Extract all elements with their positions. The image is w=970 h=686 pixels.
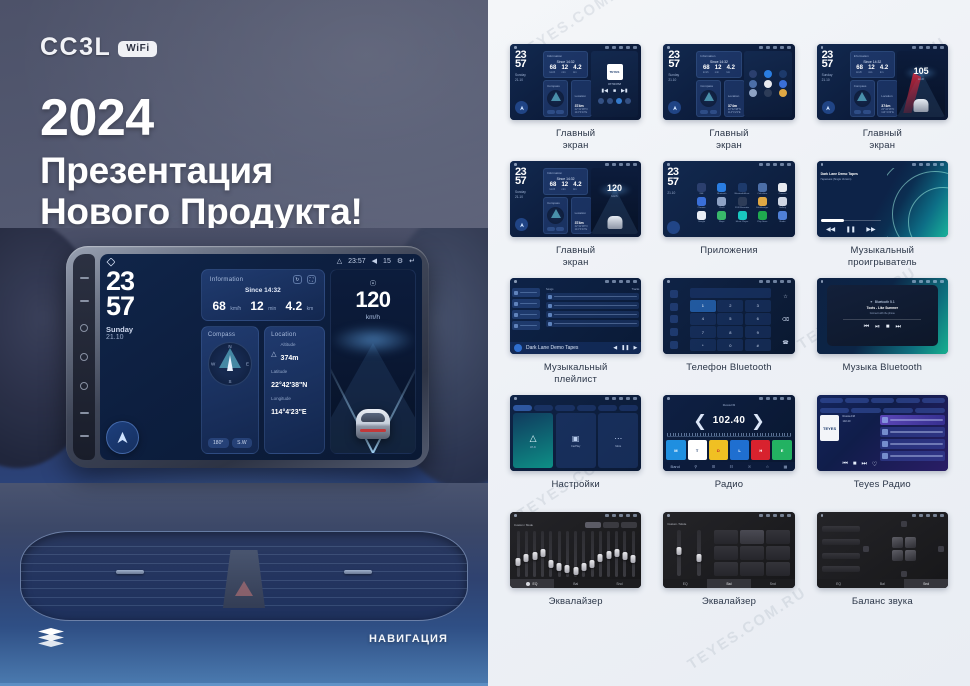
- gallery-item[interactable]: EQBalSndБаланс звука: [817, 512, 948, 620]
- backspace-icon[interactable]: ⌫: [782, 317, 789, 323]
- thumb-compass-card[interactable]: Compass: [696, 80, 721, 117]
- eq-band-slider[interactable]: [582, 531, 585, 577]
- trip-stat: 68 km/h: [213, 297, 242, 315]
- card-label: More: [615, 445, 621, 448]
- thumb-since: Since 14:32: [854, 60, 891, 64]
- wifi-icon: [759, 397, 763, 400]
- thumb-navigation-fab[interactable]: [668, 101, 681, 114]
- thumb-stat: 68km/h: [856, 65, 863, 74]
- equalizer-bands[interactable]: [510, 529, 641, 579]
- eq-preset-button: [766, 530, 790, 544]
- trip-stat: 4.2 km: [285, 297, 313, 315]
- button-back-icon[interactable]: [80, 382, 88, 390]
- settings-card-carplay[interactable]: ▣CarPlay: [556, 413, 596, 468]
- eq-band-slider[interactable]: [558, 531, 561, 577]
- thumb-location-title: Location: [575, 211, 586, 215]
- prev-station-icon[interactable]: ❮: [693, 411, 706, 431]
- teyes-station-row[interactable]: [880, 451, 945, 461]
- arrow-down-icon[interactable]: [901, 571, 907, 577]
- thumb-status-bar: [510, 512, 641, 519]
- thumb-dialpad[interactable]: 123456789*0#: [690, 300, 771, 351]
- stop-icon[interactable]: ■: [886, 324, 890, 331]
- headline-line-2: Нового Продукта!: [40, 191, 460, 232]
- playlist-category[interactable]: [512, 310, 540, 319]
- balance-pad[interactable]: [864, 522, 943, 576]
- playlist-category[interactable]: [512, 321, 540, 330]
- trip-stat: 12 min: [250, 297, 276, 315]
- thumb-navigation-preview[interactable]: 105km/h: [897, 51, 945, 118]
- clock-weekday: Sunday: [106, 325, 196, 334]
- teyes-subtabs[interactable]: [817, 405, 948, 415]
- thumb-clock-column: 2357Sunday21.10: [513, 51, 541, 118]
- compass-card[interactable]: Compass N S W E: [201, 326, 259, 454]
- compass-direction: S.W: [232, 438, 253, 448]
- car-3d-model: [914, 99, 929, 112]
- app-label: Google: [698, 221, 705, 223]
- app-icon: [749, 70, 757, 78]
- clock-icon: [612, 280, 616, 283]
- thumb-status-bar: [817, 278, 948, 285]
- thumb-widgets-column: InformationSince 14:3268km/h12min4.2kmCo…: [850, 51, 895, 118]
- thumb-stat: 4.2km: [573, 182, 581, 191]
- wifi-icon: △: [337, 258, 342, 265]
- stat-unit: min: [268, 306, 276, 312]
- thumb-stat: 12min: [715, 65, 722, 74]
- dial-key: 0: [717, 339, 743, 351]
- gallery-item[interactable]: Custom / ModeEQBalSndЭквалайзер: [510, 512, 641, 620]
- wifi-icon: [759, 514, 763, 517]
- dial-key: 2: [717, 300, 743, 312]
- screen-thumbnail-settings[interactable]: △Wi-Fi▣CarPlay⋯More: [510, 395, 641, 471]
- thumb-widgets-column: InformationSince 14:3268km/h12min4.2kmCo…: [543, 51, 588, 118]
- volume-icon: [619, 280, 623, 283]
- gallery-item[interactable]: △Wi-Fi▣CarPlay⋯MoreНастройки: [510, 395, 641, 503]
- radio-toolbar[interactable]: Band⚲☰☷☉☆▦: [663, 462, 794, 471]
- phone-number-input[interactable]: [690, 288, 771, 298]
- stat-unit: km: [307, 306, 314, 312]
- thumb-playlist-sidebar: [510, 285, 542, 342]
- home-icon: [821, 280, 824, 283]
- favorite-icon[interactable]: ♡: [872, 461, 877, 468]
- dial-key: 7: [690, 326, 716, 338]
- eq-preset-button: [740, 546, 764, 560]
- clock-icon: [919, 280, 923, 283]
- navigation-preview[interactable]: ☉ 120 km/h: [330, 269, 416, 454]
- next-icon: ▶: [633, 345, 637, 351]
- next-icon[interactable]: ⏭: [862, 461, 867, 468]
- thumb-settings-tabs[interactable]: [510, 402, 641, 413]
- thumb-location-card[interactable]: Location374m22°42'38"N114°4'23"E: [724, 80, 745, 117]
- screen-thumbnail-home-nav[interactable]: 2357Sunday21.10InformationSince 14:3268k…: [510, 161, 641, 237]
- next-station-icon[interactable]: ❯: [751, 411, 764, 431]
- screen-thumbnail-bt-music[interactable]: ⚭Bluetooth 5.1Toots - Like SummerConnect…: [817, 278, 948, 354]
- tab-wifi: [513, 405, 532, 411]
- screen-thumbnail-teyes-radio[interactable]: TEYESRussia FM102.40⏮■⏭♡: [817, 395, 948, 471]
- app-label: Calculator: [757, 193, 767, 195]
- thumb-clock-minutes: 57: [822, 60, 848, 70]
- eq-band-slider[interactable]: [632, 531, 635, 577]
- app-label: Radio: [780, 221, 786, 223]
- gallery-item[interactable]: 2357Sunday21.10InformationSince 14:3268k…: [510, 44, 641, 152]
- thumb-status-bar: [817, 512, 948, 519]
- thumb-location-title: Location: [575, 94, 586, 98]
- thumb-stat: 68km/h: [703, 65, 710, 74]
- thumb-status-bar: [510, 278, 641, 285]
- console-button-right[interactable]: [344, 570, 372, 574]
- thumb-information-card[interactable]: InformationSince 14:3268km/h12min4.2km: [696, 51, 741, 78]
- playlist-category[interactable]: [512, 299, 540, 308]
- thumb-compass-card[interactable]: Compass: [543, 197, 568, 234]
- thumb-stat: 68km/h: [550, 182, 557, 191]
- latitude-row: Latitude 22°42'38"N: [271, 369, 318, 392]
- trip-since-label: Since 14:32: [208, 287, 318, 294]
- back-icon[interactable]: [667, 221, 680, 234]
- app-label: DVR Recorder: [735, 207, 749, 209]
- gear-icon: [626, 46, 630, 49]
- button-volume-down-icon[interactable]: [80, 277, 89, 279]
- seat: [905, 550, 916, 561]
- gallery-item[interactable]: 2357Sunday21.10InformationSince 14:3268k…: [817, 44, 948, 152]
- screen-thumbnail-home-nav-red[interactable]: 2357Sunday21.10InformationSince 14:3268k…: [817, 44, 948, 120]
- thumb-clock-column: 2357Sunday21.10: [820, 51, 848, 118]
- seat: [905, 537, 916, 548]
- app-label: Bluetooth: [717, 193, 726, 195]
- eq-band-slider[interactable]: [533, 531, 536, 577]
- hardware-button-strip[interactable]: [73, 254, 95, 460]
- button-mute-icon[interactable]: [80, 300, 89, 302]
- card-label: CarPlay: [571, 445, 580, 448]
- wifi-icon: [605, 46, 609, 49]
- navigation-arrow-icon: [825, 105, 831, 111]
- recents-icon: [670, 328, 678, 336]
- tab-display: [555, 405, 574, 411]
- balance-readouts: [822, 522, 861, 576]
- button-next-icon[interactable]: [80, 435, 89, 437]
- back-icon: [787, 514, 791, 517]
- teyes-station-row[interactable]: [880, 415, 945, 425]
- tab-balance: Bal: [554, 579, 598, 588]
- eq-band-slider[interactable]: [517, 531, 520, 577]
- back-icon: [940, 46, 944, 49]
- progress-bar[interactable]: [821, 220, 881, 221]
- thumb-stat: 4.2km: [880, 65, 888, 74]
- app-icon: Play Store: [753, 211, 771, 223]
- gear-icon: [626, 163, 630, 166]
- location-title: Location: [271, 332, 318, 338]
- arrow-up-icon[interactable]: [901, 521, 907, 527]
- dial-key: 6: [745, 313, 771, 325]
- back-icon[interactable]: ↵: [409, 258, 415, 265]
- thumb-information-card[interactable]: InformationSince 14:3268km/h12min4.2km: [543, 51, 588, 78]
- refresh-icon[interactable]: ↻: [293, 275, 302, 284]
- clock-icon: [766, 280, 770, 283]
- wifi-icon: [759, 46, 763, 49]
- thumb-compass-card[interactable]: Compass: [543, 80, 568, 117]
- eq-preset-grid[interactable]: [714, 530, 790, 576]
- thumb-info-title: Information: [547, 171, 584, 175]
- screen-thumbnail-bt-phone[interactable]: 123456789*0#☆⌫☎: [663, 278, 794, 354]
- button-prev-icon[interactable]: [80, 412, 89, 414]
- teyes-tabs[interactable]: [817, 395, 948, 405]
- widgets-column: Information ↻ ⛶ Since 14:32 68: [201, 269, 325, 454]
- tab-sound: Snd: [751, 579, 795, 588]
- eq-band-slider[interactable]: [607, 531, 610, 577]
- eq-band-slider[interactable]: [525, 531, 528, 577]
- gallery-item[interactable]: Custom / ModeEQBalSndЭквалайзер: [663, 512, 794, 620]
- thumb-navigation-preview[interactable]: 120km/h: [591, 168, 639, 235]
- eq-band-slider[interactable]: [615, 531, 618, 577]
- playlist-row[interactable]: [546, 293, 639, 300]
- tab-balance: Bal: [860, 579, 904, 588]
- dial-key: 5: [717, 313, 743, 325]
- bt-version: Bluetooth 5.1: [875, 300, 895, 304]
- app-label: BluetoothMusic: [735, 193, 750, 195]
- prev-icon: ◀◀: [826, 226, 835, 233]
- back-icon: [633, 280, 637, 283]
- playlist-category[interactable]: [512, 288, 540, 297]
- app-icon: [779, 89, 787, 97]
- button-power-icon[interactable]: [80, 324, 88, 332]
- prev-icon[interactable]: ⏮: [864, 324, 869, 331]
- visualizer: [887, 168, 948, 237]
- screens-gallery-panel: TEYES.COM.RU TEYES.COM.RU TEYES.COM.RU T…: [488, 0, 970, 686]
- app-icon: [779, 70, 787, 78]
- altitude-value: 374m: [281, 355, 299, 362]
- radio-frequency: 102.40: [713, 415, 745, 426]
- clock-icon: [612, 163, 616, 166]
- console-button-left[interactable]: [116, 570, 144, 574]
- thumb-media-widget[interactable]: TEYES07:50 PM▮◀■▶▮: [591, 51, 639, 118]
- thumb-speed-value: 105: [914, 67, 929, 76]
- status-bar: △ 23:57 ◀ 15 ⚙ ↵: [100, 254, 422, 269]
- back-icon: [940, 280, 944, 283]
- player-controls: ◀◀❚❚▶▶: [821, 226, 881, 233]
- thumb-stat: 4.2km: [727, 65, 735, 74]
- wifi-icon: △: [530, 433, 537, 444]
- call-icon[interactable]: ☎: [782, 340, 788, 346]
- thumb-phone-sidebar[interactable]: [663, 285, 684, 354]
- play-pause-icon[interactable]: ⏯: [875, 324, 880, 331]
- prev-icon[interactable]: ⏮: [842, 461, 847, 468]
- frequency-scale[interactable]: [667, 433, 790, 438]
- arrow-left-icon[interactable]: [863, 546, 869, 552]
- hero-panel: TEYES.COM.RU TEYES.COM.RU TEYES.COM.RU C…: [0, 0, 488, 686]
- gear-icon[interactable]: ⚙: [397, 258, 403, 265]
- eq-tab-bar[interactable]: EQBalSnd: [510, 579, 641, 588]
- gallery-item[interactable]: 123456789*0#☆⌫☎Телефон Bluetooth: [663, 278, 794, 386]
- screen-thumbnail-equalizer[interactable]: Custom / ModeEQBalSnd: [510, 512, 641, 588]
- volume-icon: [926, 163, 930, 166]
- eq-band-slider[interactable]: [566, 531, 569, 577]
- bt-track-title: Toots - Like Summer: [867, 306, 898, 310]
- back-icon: [940, 163, 944, 166]
- horizon-glow: [330, 325, 416, 355]
- altitude-label: Altitude: [281, 342, 299, 347]
- playlist-row[interactable]: [546, 311, 639, 318]
- gallery-item[interactable]: 235721.10IMEBluetoothBluetoothMusicCalcu…: [663, 161, 794, 269]
- hero-footer: НАВИГАЦИЯ: [0, 600, 488, 686]
- next-icon[interactable]: ⏭: [896, 324, 901, 331]
- eq-band-slider[interactable]: [574, 531, 577, 577]
- teyes-controls: ⏮■⏭♡: [842, 461, 877, 468]
- thumb-widgets-column: InformationSince 14:3268km/h12min4.2kmCo…: [543, 168, 588, 235]
- thumb-information-card[interactable]: InformationSince 14:3268km/h12min4.2km: [543, 168, 588, 195]
- dial-key: 4: [690, 313, 716, 325]
- volume-icon: [926, 46, 930, 49]
- location-card[interactable]: Location △ Altitude 374m: [264, 326, 325, 454]
- screen-thumbnail-radio[interactable]: Russia FM❮102.40❯MTDLHEBand⚲☰☷☉☆▦: [663, 395, 794, 471]
- head-unit-screen[interactable]: △ 23:57 ◀ 15 ⚙ ↵ 23 57 Sunday: [100, 254, 422, 460]
- album-art: TEYES: [607, 64, 623, 80]
- expand-icon[interactable]: ⛶: [307, 275, 316, 284]
- dial-key: *: [690, 339, 716, 351]
- gallery-item[interactable]: Dark Lane Demo TapesГармония (Single Ver…: [817, 161, 948, 269]
- search-icon: ⚲: [694, 464, 697, 469]
- brand-logo: CC3L WiFi: [40, 33, 157, 62]
- thumb-app-drawer[interactable]: [744, 51, 792, 118]
- eq-icon: ☷: [730, 464, 734, 469]
- thumb-location-card[interactable]: Location374m22°42'38"N114°4'23"E: [877, 80, 898, 117]
- information-card[interactable]: Information ↻ ⛶ Since 14:32 68: [201, 269, 325, 321]
- compass-heading: 180°: [208, 438, 229, 448]
- thumb-player-bar[interactable]: Dark Lane Demo Tapes◀❚❚▶: [510, 342, 641, 354]
- thumb-clock-date: Sunday21.10: [668, 73, 694, 82]
- thumb-compass-dial: [700, 90, 717, 107]
- playlist-row[interactable]: [546, 302, 639, 309]
- pause-icon: ❚❚: [621, 345, 629, 351]
- information-title: Information: [210, 277, 243, 283]
- thumb-navigation-fab[interactable]: [822, 101, 835, 114]
- station-presets[interactable]: MTDLHE: [663, 438, 794, 462]
- settings-card-more[interactable]: ⋯More: [598, 413, 638, 468]
- screen-thumbnail-balance[interactable]: EQBalSnd: [817, 512, 948, 588]
- eq-band-slider[interactable]: [549, 531, 552, 577]
- thumb-bt-music-card: ⚭Bluetooth 5.1Toots - Like SummerConnect…: [827, 285, 938, 346]
- grid-icon: ▦: [784, 464, 788, 469]
- tab-sound: Snd: [598, 579, 642, 588]
- eq-vertical-sliders[interactable]: [668, 530, 709, 576]
- volume-icon: [926, 280, 930, 283]
- app-icon: Camera: [773, 183, 791, 195]
- home-icon: [667, 514, 670, 517]
- eq-tab-bar[interactable]: EQBalSnd: [817, 579, 948, 588]
- app-label: IME: [700, 193, 704, 195]
- screen-thumbnail-home-apps[interactable]: 2357Sunday21.10InformationSince 14:3268k…: [663, 44, 794, 120]
- gallery-item[interactable]: SongsTracksDark Lane Demo Tapes◀❚❚▶Музык…: [510, 278, 641, 386]
- thumb-navigation-fab[interactable]: [515, 218, 528, 231]
- now-playing: Dark Lane Demo Tapes: [526, 345, 578, 351]
- eq-band-slider[interactable]: [591, 531, 594, 577]
- thumb-location-card[interactable]: Location374m22°42'38"N114°4'23"E: [571, 80, 592, 117]
- navigation-fab-button[interactable]: [106, 421, 139, 454]
- prev-icon: ▮◀: [601, 88, 608, 94]
- clock-icon: [766, 163, 770, 166]
- thumb-stat: 12min: [561, 65, 568, 74]
- volume-icon: [773, 163, 777, 166]
- thumb-settings-cards: △Wi-Fi▣CarPlay⋯More: [510, 413, 641, 471]
- media-time: 07:50 PM: [608, 82, 621, 86]
- gear-icon: [626, 397, 630, 400]
- thumb-navigation-fab[interactable]: [515, 101, 528, 114]
- arrow-right-icon[interactable]: [938, 546, 944, 552]
- eq-mode-tabs[interactable]: [585, 522, 637, 528]
- gallery-item[interactable]: 2357Sunday21.10InformationSince 14:3268k…: [510, 161, 641, 269]
- gallery-item[interactable]: TEYESRussia FM102.40⏮■⏭♡Teyes Радио: [817, 395, 948, 503]
- home-icon: [667, 280, 670, 283]
- screen-caption: Главныйэкран: [556, 128, 595, 152]
- app-label: Camera: [779, 193, 787, 195]
- volume-icon: ◀: [372, 258, 377, 265]
- dialpad-icon: [670, 290, 678, 298]
- latitude-label: Latitude: [271, 369, 318, 374]
- favorite-icon[interactable]: ☆: [783, 294, 787, 300]
- screen-caption: Настройки: [551, 479, 599, 503]
- thumb-compass-card[interactable]: Compass: [850, 80, 875, 117]
- band-icon: Band: [671, 464, 680, 469]
- gear-icon: [933, 163, 937, 166]
- navigation-arrow-icon: [519, 105, 525, 111]
- bluetooth-icon: ⚭: [870, 300, 873, 304]
- thumb-compass-dial: [854, 90, 871, 107]
- thumb-speed-unit: km/h: [611, 194, 617, 198]
- teyes-station-row[interactable]: [880, 439, 945, 449]
- hero-headline: 2024 Презентация Нового Продукта!: [40, 92, 460, 233]
- eq-slider: [697, 530, 701, 576]
- readout-front: [822, 526, 861, 532]
- eq-band-slider[interactable]: [623, 531, 626, 577]
- thumb-status-bar: [663, 161, 794, 168]
- thumb-information-card[interactable]: InformationSince 14:3268km/h12min4.2km: [850, 51, 895, 78]
- list-icon: ☰: [712, 464, 716, 469]
- gallery-item[interactable]: ⚭Bluetooth 5.1Toots - Like SummerConnect…: [817, 278, 948, 386]
- stat-value: 68: [213, 299, 226, 313]
- screen-thumbnail-apps[interactable]: 235721.10IMEBluetoothBluetoothMusicCalcu…: [663, 161, 794, 237]
- thumb-since: Since 14:32: [700, 60, 737, 64]
- carplay-icon: ▣: [572, 434, 580, 443]
- eq-slider: [677, 530, 681, 576]
- wifi-icon: [912, 514, 916, 517]
- settings-card-wifi[interactable]: △Wi-Fi: [513, 413, 553, 468]
- screen-thumbnail-music-player[interactable]: Dark Lane Demo TapesГармония (Single Ver…: [817, 161, 948, 237]
- eq-preset-button: [766, 546, 790, 560]
- eq-band-slider[interactable]: [599, 531, 602, 577]
- stop-icon[interactable]: ■: [853, 461, 857, 468]
- eq-band-slider[interactable]: [541, 531, 544, 577]
- wifi-icon: [912, 163, 916, 166]
- station-preset: D: [709, 440, 728, 460]
- eq-tab-bar[interactable]: EQBalSnd: [663, 579, 794, 588]
- screen-thumbnail-equalizer-2[interactable]: Custom / ModeEQBalSnd: [663, 512, 794, 588]
- gallery-item[interactable]: Russia FM❮102.40❯MTDLHEBand⚲☰☷☉☆▦Радио: [663, 395, 794, 503]
- screen-thumbnail-home-media[interactable]: 2357Sunday21.10InformationSince 14:3268k…: [510, 44, 641, 120]
- gear-icon: [780, 514, 784, 517]
- screen-thumbnail-playlist[interactable]: SongsTracksDark Lane Demo Tapes◀❚❚▶: [510, 278, 641, 354]
- teyes-station-row[interactable]: [880, 427, 945, 437]
- thumb-apps-grid[interactable]: IMEBluetoothBluetoothMusicCalculatorCame…: [689, 168, 794, 237]
- stop-icon: ■: [613, 88, 616, 94]
- thumb-location-card[interactable]: Location374m22°42'38"N114°4'23"E: [571, 197, 592, 234]
- playlist-row[interactable]: [546, 320, 639, 327]
- home-icon[interactable]: [106, 257, 115, 266]
- teyes-meta: Russia FM102.40⏮■⏭♡: [842, 415, 877, 468]
- button-home-icon[interactable]: [80, 353, 88, 361]
- gallery-item[interactable]: 2357Sunday21.10InformationSince 14:3268k…: [663, 44, 794, 152]
- thumb-status-bar: [663, 278, 794, 285]
- headline-line-1: Презентация: [40, 150, 460, 191]
- screen-caption: Баланс звука: [852, 596, 913, 620]
- home-icon: [821, 514, 824, 517]
- app-icon: FileManager: [753, 197, 771, 209]
